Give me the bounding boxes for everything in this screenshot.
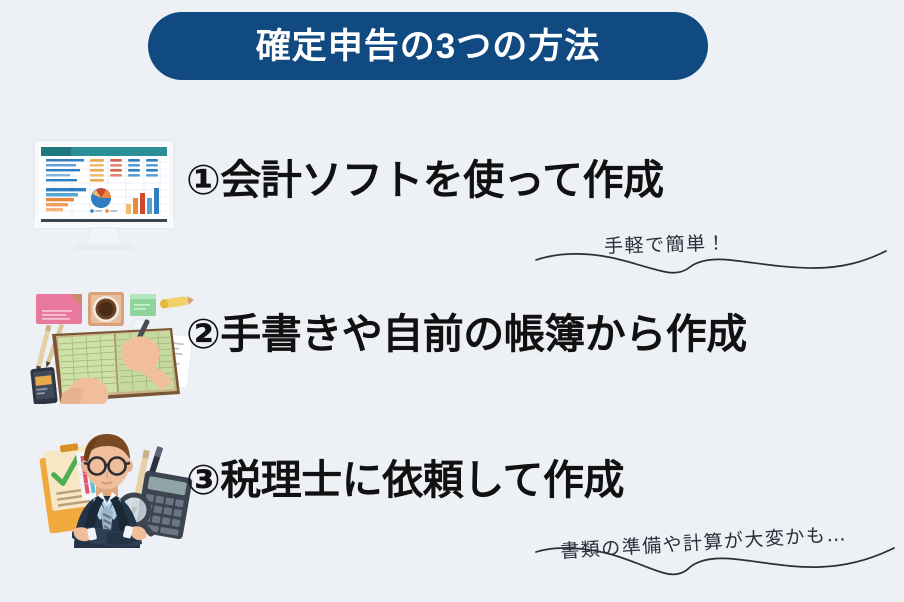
desk-ledger-handwriting-icon [14,280,184,404]
method-row-1: ①会計ソフトを使って作成 手軽で簡単！ [0,118,904,258]
tax-accountant-person-icon [14,426,184,550]
method-row-2: ②手書きや自前の帳簿から作成 書類の準備や計算が大変かも… [0,272,904,412]
computer-monitor-dashboard-icon [14,126,184,250]
title-pill: 確定申告の3つの方法 [148,12,708,80]
method-1-note: 手軽で簡単！ [604,228,728,258]
method-1-label: ①会計ソフトを使って作成 [186,160,664,201]
page-title: 確定申告の3つの方法 [256,29,600,64]
method-2-label: ②手書きや自前の帳簿から作成 [186,314,747,355]
method-3-label: ③税理士に依頼して作成 [186,460,624,501]
method-row-3: ③税理士に依頼して作成 事業所得が多い人におすすめ [0,418,904,558]
